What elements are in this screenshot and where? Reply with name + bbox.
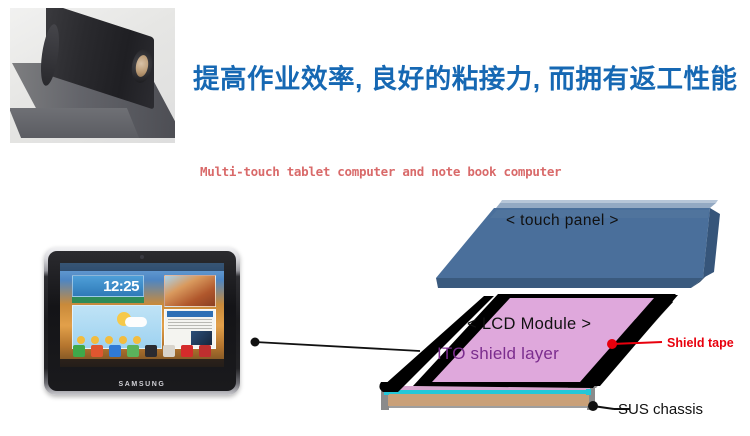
clock-widget: 12:25 [72,275,144,297]
app-icon-contacts [91,345,103,357]
forecast-sun-icon [133,336,141,344]
lcd-module-label: < LCD Module > [467,315,591,334]
diagram-caption: Multi-touch tablet computer and note boo… [200,164,561,179]
tablet-brand-label: SAMSUNG [44,381,240,388]
news-widget [164,309,216,349]
product-photo [10,8,175,143]
forecast-sun-icon [77,336,85,344]
tape-sheet-front-shape [10,108,139,138]
news-text-line [168,322,212,323]
news-text-line [168,325,212,326]
news-header [167,311,213,317]
sus-chassis-label: SUS chassis [618,401,703,418]
forecast-sun-icon [119,336,127,344]
weather-widget [72,305,162,349]
news-text-line [168,319,212,320]
sus-chassis-stack [381,386,595,410]
app-icon-camera [145,345,157,357]
shield-tape-label: Shield tape [667,336,734,350]
cloud-icon [125,317,147,327]
tablet-to-lcd-leader [251,338,421,352]
screen-nav-bar [60,359,224,367]
page-title: 提高作业效率, 良好的粘接力, 而拥有返工性能 [193,57,748,96]
news-thumbnail [191,331,212,345]
news-text-line [168,328,212,329]
app-icon-notes [163,345,175,357]
exploded-layer-diagram: < touch panel > < LCD Module > ITO shiel… [248,196,750,436]
ito-shield-layer-label: ITO shield layer [437,344,559,364]
app-icon-browser [109,345,121,357]
photo-widget [164,275,216,307]
forecast-sun-icon [105,336,113,344]
forecast-sun-icon [91,336,99,344]
app-icon-settings [199,345,211,357]
tablet-device-illustration: 12:25 [44,247,240,395]
weather-forecast-row [77,336,141,344]
touch-panel-label: < touch panel > [506,212,619,230]
tablet-screen: 12:25 [60,263,224,367]
clock-widget-subbar [72,297,144,303]
screen-status-bar [60,263,224,271]
app-icon-video [181,345,193,357]
app-icon-messages [127,345,139,357]
app-dock [60,344,224,358]
app-icon-phone [73,345,85,357]
front-camera-icon [140,255,144,259]
